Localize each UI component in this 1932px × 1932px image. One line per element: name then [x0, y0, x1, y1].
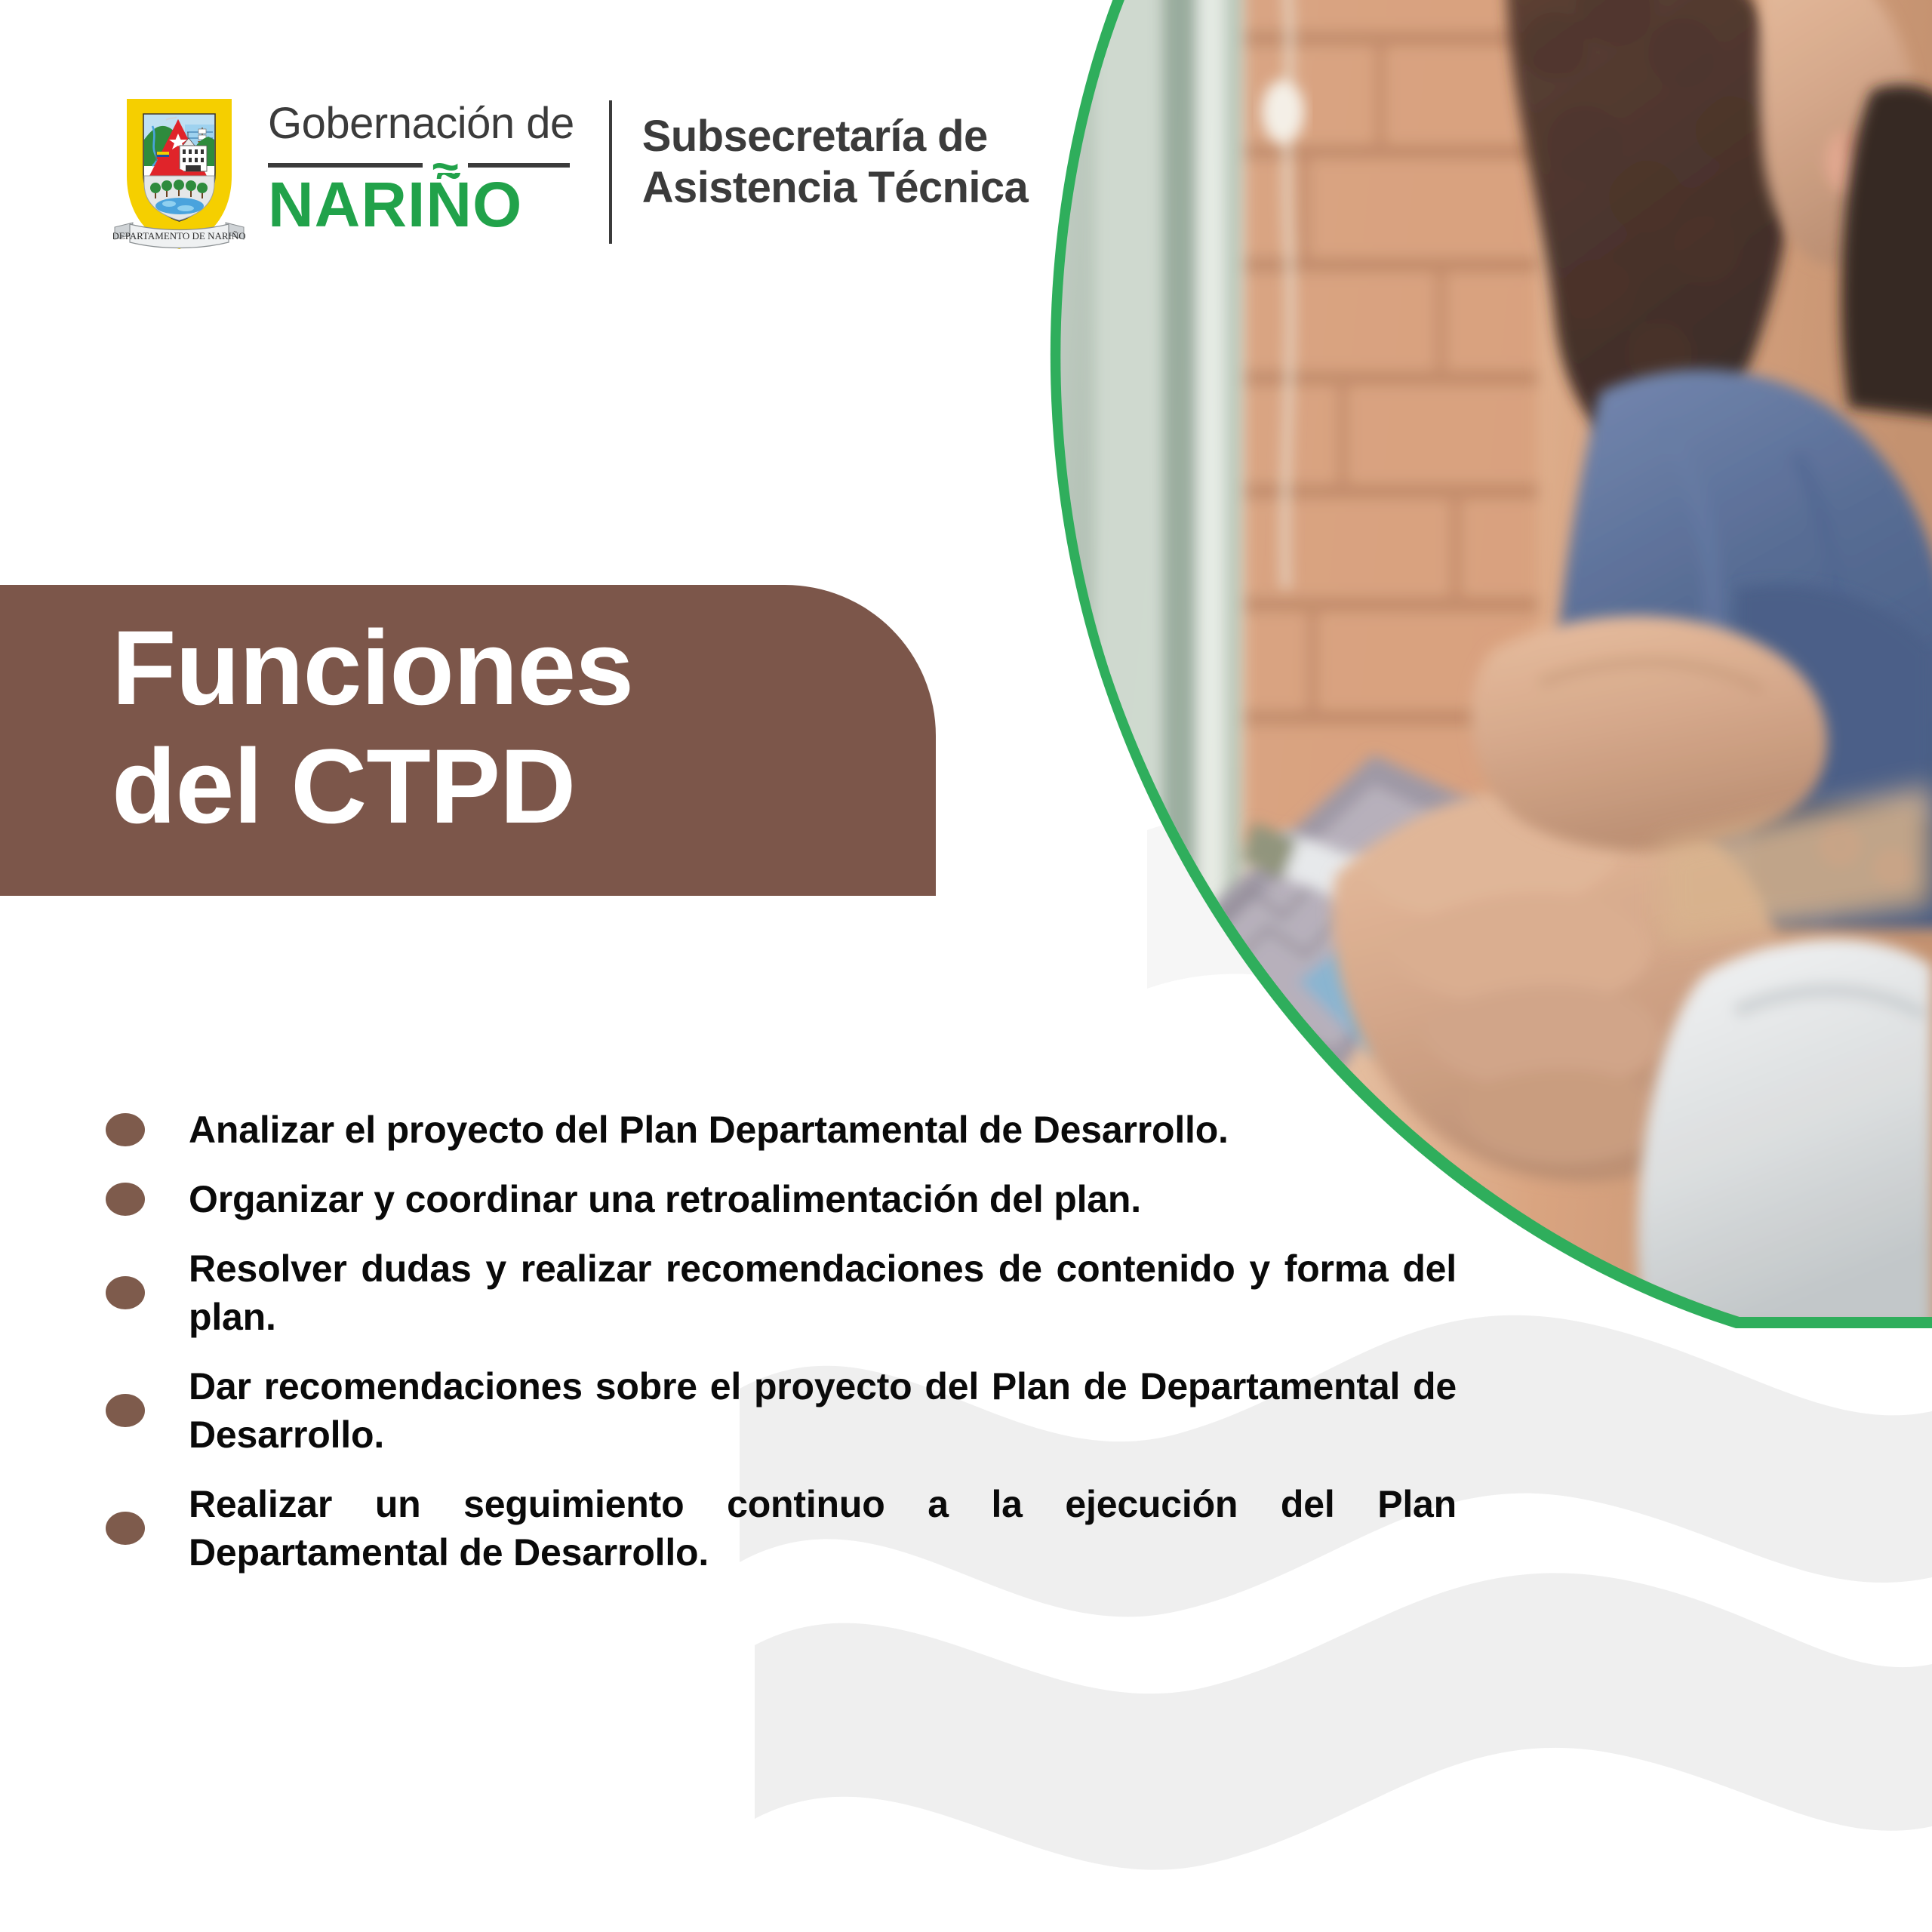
department-name: Subsecretaría de Asistencia Técnica: [642, 94, 1028, 214]
bullet-dot-icon: [106, 1276, 145, 1309]
page-title: Funciones del CTPD: [112, 609, 633, 846]
bullet-dot-icon: [106, 1512, 145, 1545]
department-line2: Asistencia Técnica: [642, 162, 1028, 214]
list-item: Resolver dudas y realizar recomendacione…: [106, 1244, 1457, 1341]
list-item-text: Resolver dudas y realizar recomendacione…: [189, 1244, 1457, 1341]
list-item: Dar recomendaciones sobre el proyecto de…: [106, 1362, 1457, 1459]
bullet-dot-icon: [106, 1183, 145, 1216]
organization-line1: Gobernación de: [268, 102, 574, 146]
list-item-text: Analizar el proyecto del Plan Departamen…: [189, 1106, 1229, 1154]
functions-list: Analizar el proyecto del Plan Departamen…: [106, 1106, 1457, 1598]
brand-header: DEPARTAMENTO DE NARIÑO Gobernación de ~ …: [113, 94, 1028, 257]
title-banner: Funciones del CTPD: [0, 585, 936, 896]
list-item-text: Realizar un seguimiento continuo a la ej…: [189, 1480, 1457, 1577]
list-item: Organizar y coordinar una retroalimentac…: [106, 1175, 1457, 1223]
header-divider: [609, 100, 612, 244]
organization-line2: NARIÑO: [268, 173, 574, 238]
poster-canvas: DEPARTAMENTO DE NARIÑO Gobernación de ~ …: [0, 0, 1932, 1932]
narino-rule-with-tilde: ~: [268, 152, 570, 171]
crest-ribbon-text: DEPARTAMENTO DE NARIÑO: [113, 230, 245, 241]
list-item-text: Organizar y coordinar una retroalimentac…: [189, 1175, 1141, 1223]
list-item: Realizar un seguimiento continuo a la ej…: [106, 1480, 1457, 1577]
list-item-text: Dar recomendaciones sobre el proyecto de…: [189, 1362, 1457, 1459]
list-item: Analizar el proyecto del Plan Departamen…: [106, 1106, 1457, 1154]
bullet-dot-icon: [106, 1394, 145, 1427]
department-line1: Subsecretaría de: [642, 111, 1028, 162]
bullet-dot-icon: [106, 1113, 145, 1146]
narino-coat-of-arms-icon: DEPARTAMENTO DE NARIÑO: [113, 94, 245, 257]
tilde-accent-icon: ~: [423, 152, 468, 173]
narino-rule-bar: [268, 163, 570, 168]
organization-name: Gobernación de ~ NARIÑO: [268, 94, 574, 238]
